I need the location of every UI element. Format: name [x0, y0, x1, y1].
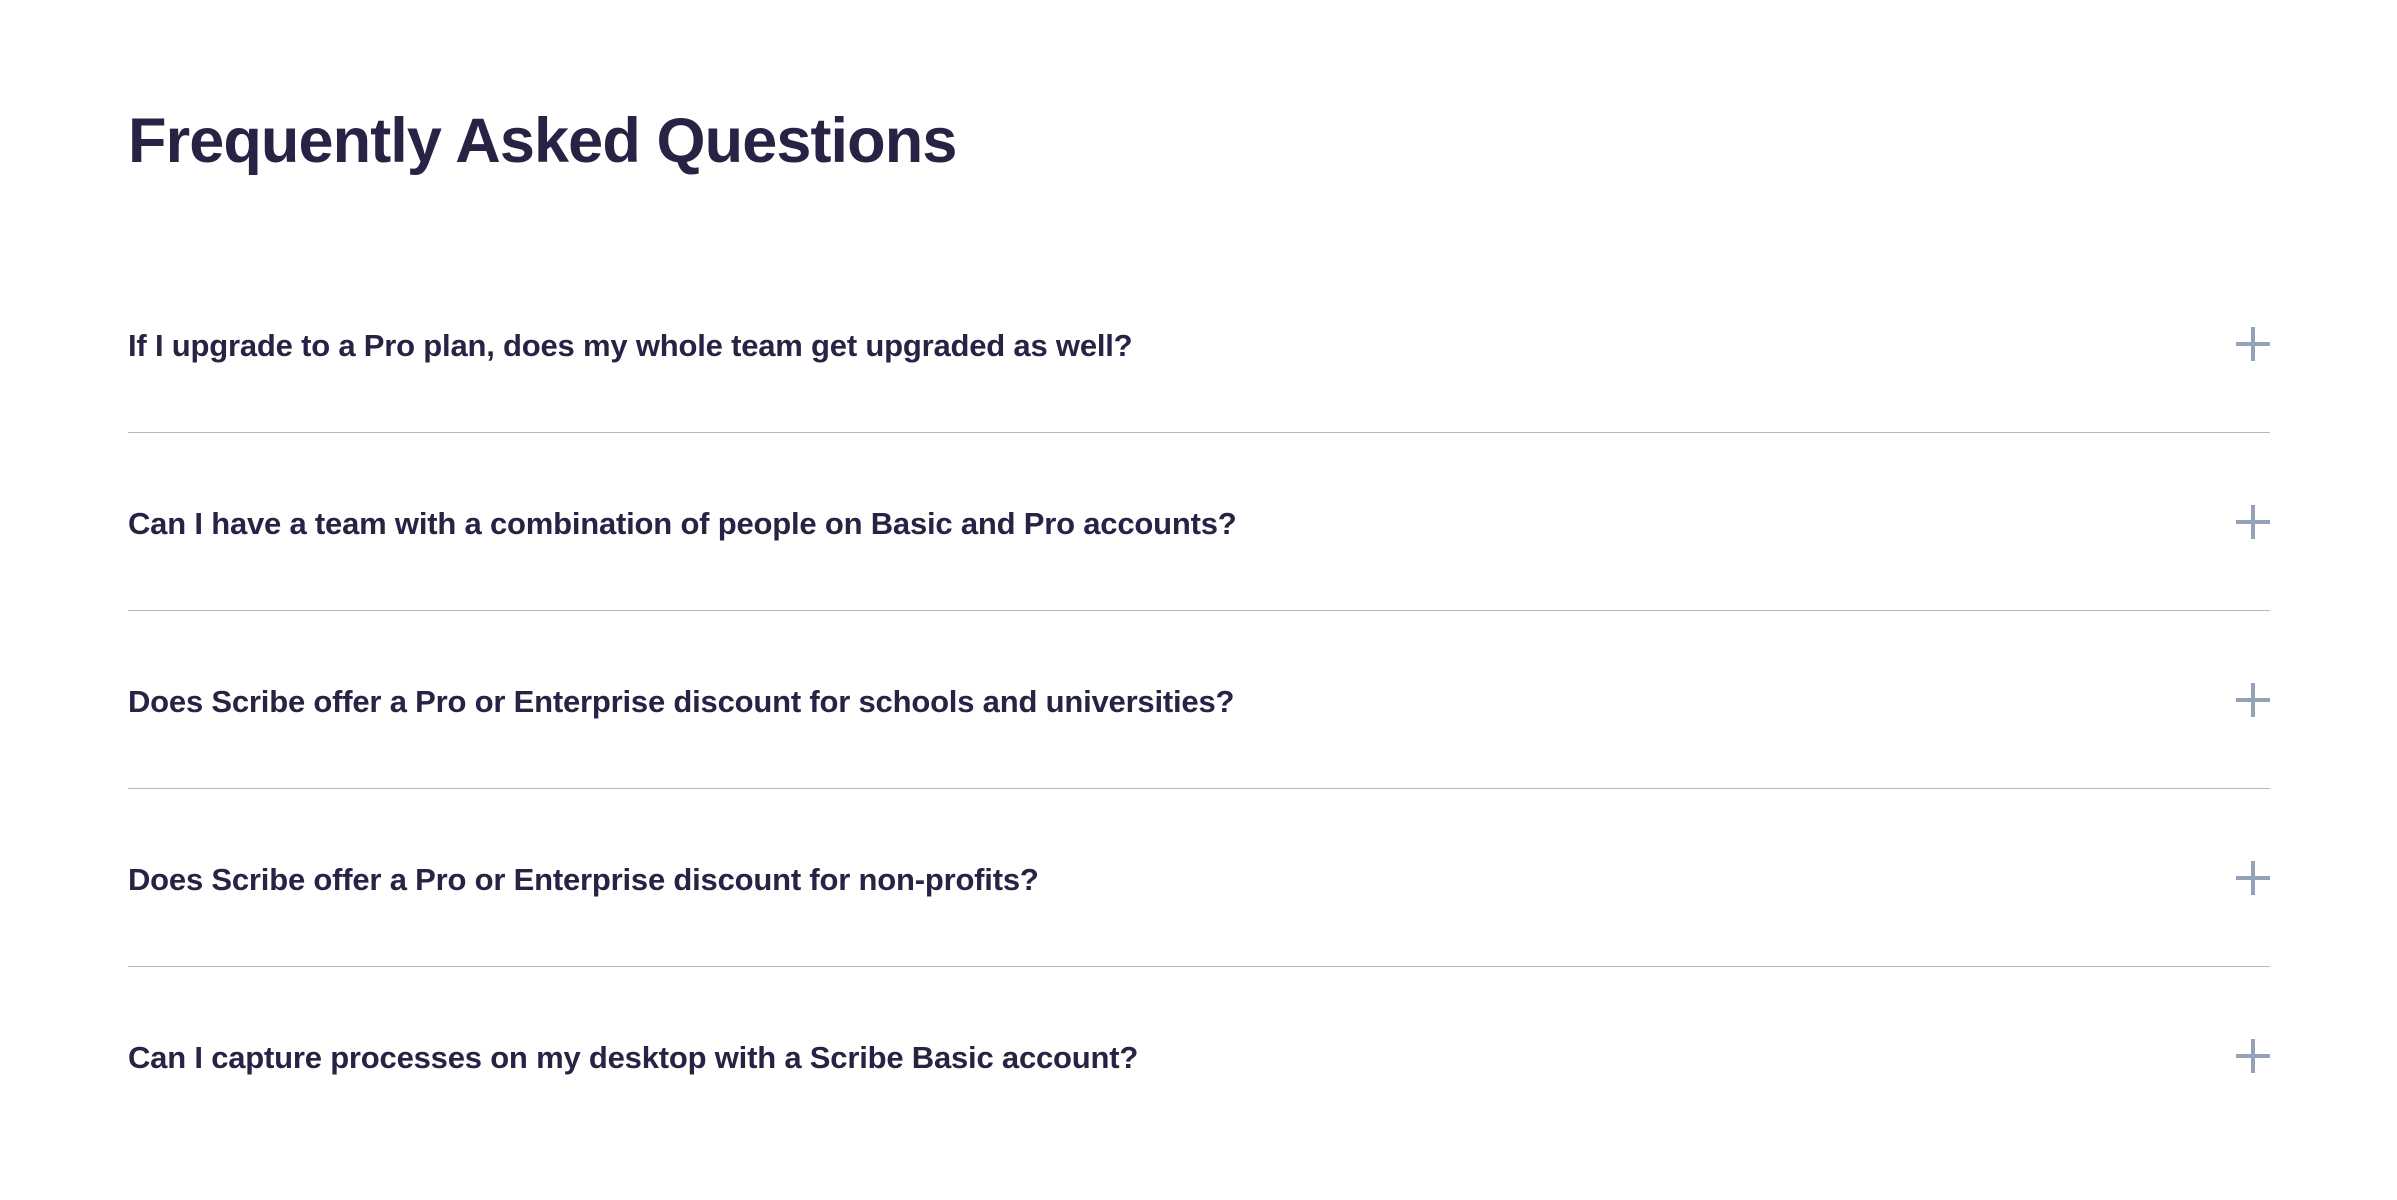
plus-icon[interactable]	[2236, 861, 2270, 895]
plus-icon-vertical-bar	[2251, 683, 2255, 717]
plus-icon-vertical-bar	[2251, 861, 2255, 895]
faq-question-label: Can I capture processes on my desktop wi…	[128, 967, 1138, 1073]
plus-icon[interactable]	[2236, 683, 2270, 717]
faq-item[interactable]: Can I have a team with a combination of …	[128, 433, 2270, 611]
plus-icon-vertical-bar	[2251, 1039, 2255, 1073]
plus-icon[interactable]	[2236, 1039, 2270, 1073]
faq-question-label: Does Scribe offer a Pro or Enterprise di…	[128, 789, 1039, 895]
faq-question-label: Does Scribe offer a Pro or Enterprise di…	[128, 611, 1234, 717]
faq-item[interactable]: Does Scribe offer a Pro or Enterprise di…	[128, 789, 2270, 967]
plus-icon[interactable]	[2236, 327, 2270, 361]
faq-question-label: If I upgrade to a Pro plan, does my whol…	[128, 255, 1132, 361]
plus-icon-vertical-bar	[2251, 505, 2255, 539]
page-title: Frequently Asked Questions	[128, 110, 956, 173]
faq-question-label: Can I have a team with a combination of …	[128, 433, 1237, 539]
faq-item[interactable]: Can I capture processes on my desktop wi…	[128, 967, 2270, 1145]
faq-item[interactable]: Does Scribe offer a Pro or Enterprise di…	[128, 611, 2270, 789]
faq-item[interactable]: If I upgrade to a Pro plan, does my whol…	[128, 255, 2270, 433]
faq-accordion-list: If I upgrade to a Pro plan, does my whol…	[128, 255, 2270, 1145]
faq-page: Frequently Asked Questions If I upgrade …	[0, 0, 2397, 1200]
plus-icon[interactable]	[2236, 505, 2270, 539]
plus-icon-vertical-bar	[2251, 327, 2255, 361]
